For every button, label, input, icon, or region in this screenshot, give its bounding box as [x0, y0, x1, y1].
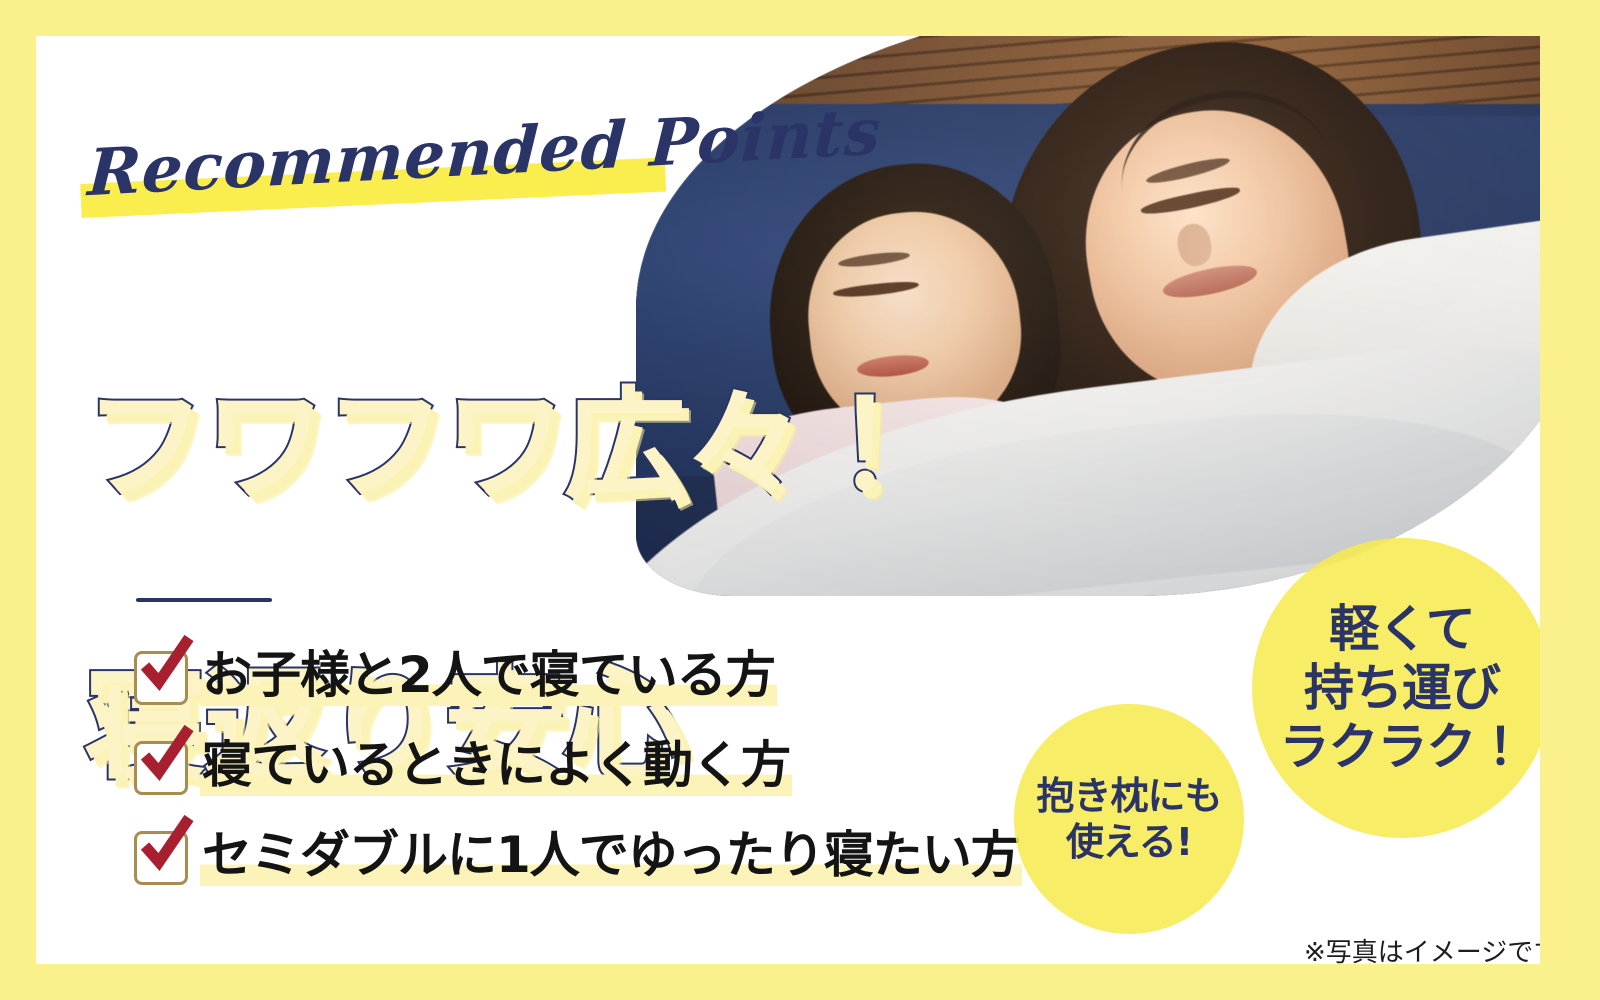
badge-line-1: 抱き枕にも [1036, 773, 1221, 819]
list-item-label: 寝ているときによく動く方 [200, 740, 792, 796]
benefits-checklist: お子様と2人で寝ている方 寝ているときによく動く方 セミダブルに1人でゆったり寝… [134, 642, 1134, 894]
check-mark-icon [135, 722, 197, 784]
badge-portability: 軽くて 持ち運び ラクラク！ [1252, 538, 1540, 838]
section-divider [136, 598, 272, 602]
badge-hugging-pillow: 抱き枕にも 使える! [1014, 704, 1244, 934]
checkbox-checked-icon [134, 741, 188, 795]
checkbox-checked-icon [134, 651, 188, 705]
list-item: お子様と2人で寝ている方 [134, 642, 1134, 714]
checkbox-checked-icon [134, 831, 188, 885]
list-item-label: お子様と2人で寝ている方 [200, 650, 777, 706]
badge-line-2: 持ち運び [1280, 659, 1525, 718]
list-item: 寝ているときによく動く方 [134, 732, 1134, 804]
banner-inner-card: Recommended Points フワフワ広々！ 寝返り安心 お子様と2人で… [36, 36, 1540, 964]
badge-line-3: ラクラク！ [1280, 718, 1525, 777]
eyebrow-block: Recommended Points [36, 132, 736, 242]
check-mark-icon [135, 812, 197, 874]
badge-line-1: 軽くて [1280, 600, 1525, 659]
list-item: セミダブルに1人でゆったり寝たい方 [134, 822, 1134, 894]
check-mark-icon [135, 632, 197, 694]
headline-line-1: フワフワ広々！ [84, 375, 944, 518]
badge-portability-text: 軽くて 持ち運び ラクラク！ [1280, 600, 1525, 777]
badge-line-2: 使える! [1036, 819, 1221, 865]
promo-banner: Recommended Points フワフワ広々！ 寝返り安心 お子様と2人で… [0, 0, 1600, 1000]
badge-hugging-pillow-text: 抱き枕にも 使える! [1036, 773, 1221, 866]
list-item-label: セミダブルに1人でゆったり寝たい方 [200, 830, 1022, 886]
image-disclaimer: ※写真はイメージです。 [1304, 932, 1540, 964]
